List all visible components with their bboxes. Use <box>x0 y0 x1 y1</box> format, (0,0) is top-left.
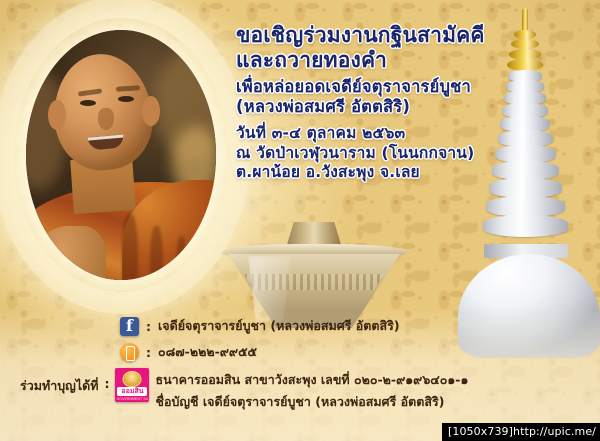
bank-details: ธนาคารออมสิน สาขาวังสะพุง เลขที่ ๐๒๐-๒-๙… <box>155 368 468 412</box>
poster-canvas: ขอเชิญร่วมงานกฐินสามัคคี และถวายทองคำ เพ… <box>0 0 600 441</box>
headline-line-1: ขอเชิญร่วมงานกฐินสามัคคี <box>236 24 566 47</box>
gsb-subtext: GOVERNMENT SAVINGS BANK <box>116 397 148 402</box>
phone-number: ๐๘๗-๒๒๒-๙๙๕๕ <box>158 342 257 362</box>
gsb-wordmark <box>117 387 147 396</box>
poster-text-block: ขอเชิญร่วมงานกฐินสามัคคี และถวายทองคำ เพ… <box>236 24 566 183</box>
donation-row: ร่วมทำบุญได้ที่ : GOVERNMENT SAVINGS BAN… <box>20 368 468 412</box>
contact-section: : เจดีย์จตุราจารย์บูชา (หลวงพ่อสมศรี อัต… <box>0 312 600 412</box>
watermark-bar: [1050x739]http://upic.me/ <box>442 423 600 441</box>
event-venue: ณ วัดป่าเวฬุวนาราม (โนนกกจาน) <box>236 145 566 162</box>
phone-icon[interactable] <box>120 343 139 362</box>
headline-line-2: และถวายทองคำ <box>236 49 566 72</box>
gsb-bank-logo-icon[interactable]: GOVERNMENT SAVINGS BANK <box>115 368 149 402</box>
contact-row-facebook[interactable]: : เจดีย์จตุราจารย์บูชา (หลวงพ่อสมศรี อัต… <box>120 316 400 336</box>
facebook-icon[interactable] <box>120 317 139 336</box>
bank-account-name: ชื่อบัญชี เจดีย์จตุราจารย์บูชา (หลวงพ่อส… <box>155 392 468 412</box>
watermark-dimensions: [1050x739] <box>448 425 513 438</box>
bank-account-branch: ธนาคารออมสิน สาขาวังสะพุง เลขที่ ๐๒๐-๒-๙… <box>155 370 468 390</box>
contact-row-phone[interactable]: : ๐๘๗-๒๒๒-๙๙๕๕ <box>120 342 257 362</box>
headline-line-4: (หลวงพ่อสมศรี อัตตสิริ) <box>236 98 566 116</box>
watermark-url: http://upic.me/ <box>513 425 596 438</box>
headline-line-3: เพื่อหล่อยอดเจดีย์จตุราจารย์บูชา <box>236 78 566 96</box>
event-date: วันที่ ๓-๔ ตุลาคม ๒๕๖๓ <box>236 125 566 142</box>
facebook-colon: : <box>146 319 151 334</box>
gsb-emblem-icon <box>123 371 142 387</box>
donation-label: ร่วมทำบุญได้ที่ <box>20 368 98 396</box>
event-location: ต.ผาน้อย อ.วังสะพุง จ.เลย <box>236 164 566 181</box>
donation-colon: : <box>104 368 109 391</box>
phone-colon: : <box>146 345 151 360</box>
facebook-page-name: เจดีย์จตุราจารย์บูชา (หลวงพ่อสมศรี อัตตส… <box>158 316 400 336</box>
